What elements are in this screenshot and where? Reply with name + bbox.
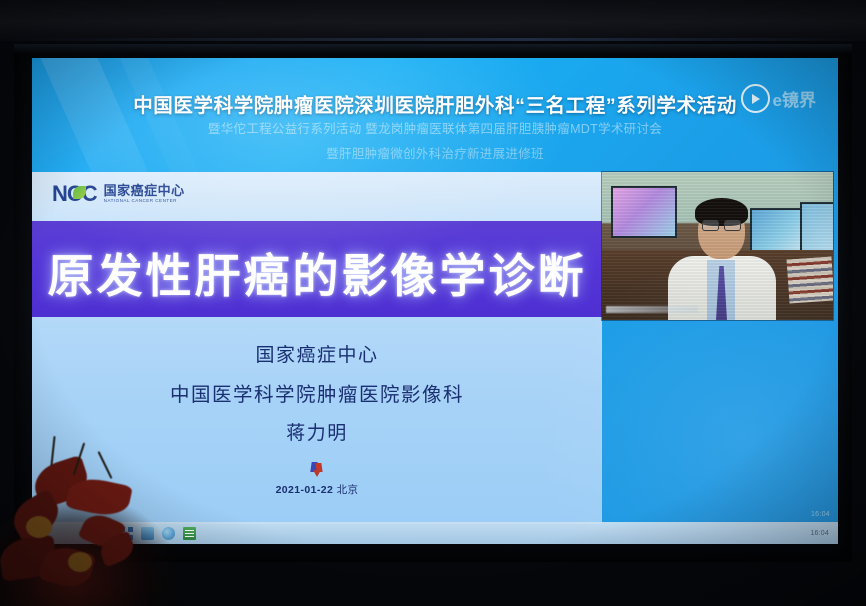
affiliation-line: 国家癌症中心 — [32, 340, 602, 367]
event-subtitle-line1: 暨华佗工程公益行系列活动 暨龙岗肿瘤医联体第四届肝胆胰肿瘤MDT学术研讨会 — [32, 118, 838, 137]
affiliation-line: 中国医学科学院肿瘤医院影像科 — [32, 378, 602, 407]
brand-logo: e镜界 — [741, 84, 816, 113]
presentation-slide[interactable]: NCC 国家癌症中心 NATIONAL CANCER CENTER 原发性肝癌的… — [32, 172, 602, 524]
play-circle-icon — [741, 84, 770, 113]
monitor-far-right — [800, 202, 833, 252]
folder-icon[interactable] — [141, 527, 154, 540]
slide-title-band: 原发性肝癌的影像学诊断 — [32, 221, 602, 317]
event-title: 中国医学科学院肿瘤医院深圳医院肝胆外科“三名工程”系列学术活动 — [32, 89, 838, 118]
slide-title: 原发性肝癌的影像学诊断 — [32, 240, 602, 306]
brand-name: e镜界 — [773, 86, 816, 111]
start-icon[interactable] — [120, 527, 133, 540]
client-header: 中国医学科学院肿瘤医院深圳医院肝胆外科“三名工程”系列学术活动 暨华佗工程公益行… — [32, 58, 838, 173]
windows-taskbar[interactable]: 16:04 — [32, 522, 838, 544]
ncc-name-chinese: 国家癌症中心 — [104, 184, 185, 197]
presenter-video-tile[interactable] — [602, 172, 833, 320]
slide-city: 北京 — [337, 485, 359, 496]
conference-room-photo: 中国医学科学院肿瘤医院深圳医院肝胆外科“三名工程”系列学术活动 暨华佗工程公益行… — [0, 0, 866, 606]
bezel-gloss — [14, 44, 852, 54]
ncc-logo-text: 国家癌症中心 NATIONAL CANCER CENTER — [104, 184, 185, 205]
book-stack — [787, 256, 833, 303]
slide-date-location: 2021-01-22 北京 — [32, 482, 602, 497]
meeting-client-screen[interactable]: 中国医学科学院肿瘤医院深圳医院肝胆外科“三名工程”系列学术活动 暨华佗工程公益行… — [32, 58, 838, 544]
event-subtitle-line2: 暨肝胆肿瘤微创外科治疗新进展进修班 — [32, 143, 838, 162]
ncc-name-english: NATIONAL CANCER CENTER — [104, 199, 185, 204]
client-clock: 16:04 — [811, 511, 830, 518]
institution-mark-icon — [310, 462, 324, 477]
play-triangle-icon — [752, 94, 760, 104]
presenter-name: 蒋力明 — [32, 418, 602, 445]
wall-seam — [0, 38, 866, 41]
monitor-left — [611, 186, 677, 238]
presenter-glasses-icon — [702, 220, 741, 229]
slide-footer: 2021-01-22 北京 — [32, 462, 602, 497]
ncc-logo: NCC 国家癌症中心 NATIONAL CANCER CENTER — [52, 183, 185, 205]
browser-icon[interactable] — [162, 527, 175, 540]
mail-icon[interactable] — [183, 527, 196, 540]
slide-affiliation-block: 国家癌症中心 中国医学科学院肿瘤医院影像科 蒋力明 — [32, 340, 602, 456]
slide-date: 2021-01-22 — [276, 484, 334, 496]
participant-name-label — [606, 306, 698, 313]
taskbar-clock[interactable]: 16:04 — [810, 530, 829, 537]
slide-logo-strip: NCC 国家癌症中心 NATIONAL CANCER CENTER — [32, 172, 602, 221]
wall-background — [0, 0, 866, 40]
